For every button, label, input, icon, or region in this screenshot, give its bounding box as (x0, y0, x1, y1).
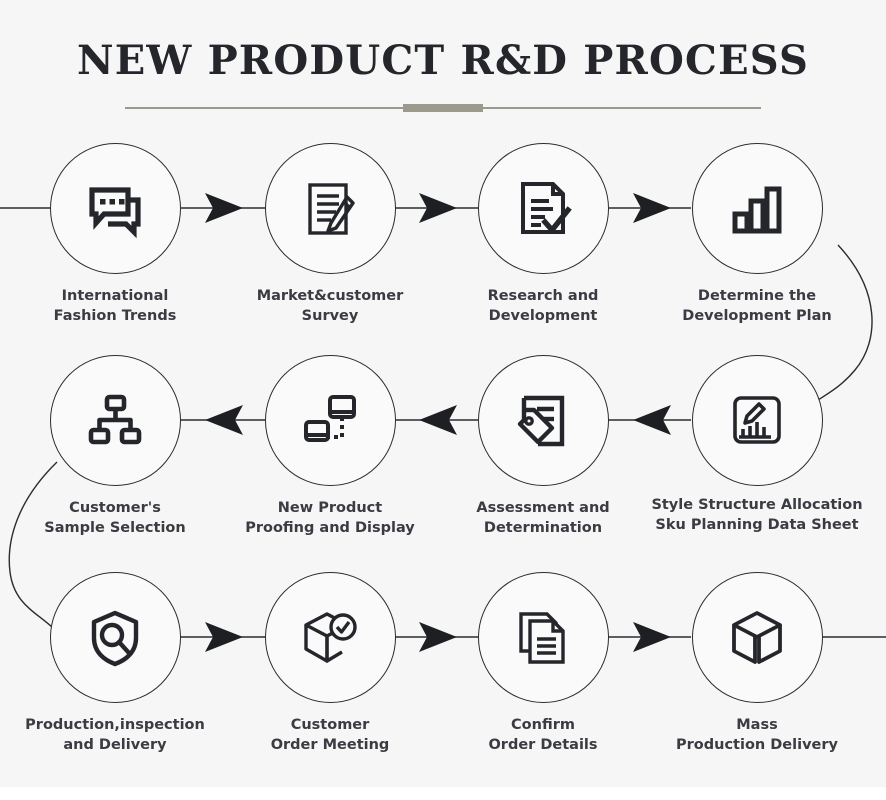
process-node-4[interactable]: Determine the Development Plan (667, 143, 847, 326)
process-node-2-label: Market&customer Survey (240, 286, 420, 326)
process-node-8[interactable]: Customer's Sample Selection (25, 355, 205, 538)
screens-network-icon (298, 389, 362, 453)
bottom-white-strip (0, 787, 886, 800)
process-node-3-circle[interactable] (478, 143, 609, 274)
document-pencil-icon (298, 177, 362, 241)
process-node-7-label: New Product Proofing and Display (240, 498, 420, 538)
process-node-2-circle[interactable] (265, 143, 396, 274)
process-node-5[interactable]: Style Structure Allocation Sku Planning … (667, 355, 847, 486)
process-node-9[interactable]: Production,inspection and Delivery (25, 572, 205, 755)
process-node-5-label: Style Structure Allocation Sku Planning … (642, 495, 872, 535)
documents-stack-icon (511, 606, 575, 670)
document-check-icon (511, 177, 575, 241)
process-node-2[interactable]: Market&customer Survey (240, 143, 420, 326)
process-node-10-circle[interactable] (265, 572, 396, 703)
process-node-12-label: Mass Production Delivery (667, 715, 847, 755)
process-node-6-circle[interactable] (478, 355, 609, 486)
cube-icon (726, 607, 788, 669)
process-node-7[interactable]: New Product Proofing and Display (240, 355, 420, 538)
shield-search-icon (83, 606, 147, 670)
chart-pencil-board-icon (725, 389, 789, 453)
process-node-9-label: Production,inspection and Delivery (0, 715, 230, 755)
process-node-11[interactable]: Confirm Order Details (453, 572, 633, 755)
process-node-11-circle[interactable] (478, 572, 609, 703)
process-node-8-label: Customer's Sample Selection (25, 498, 205, 538)
process-node-6-label: Assessment and Determination (453, 498, 633, 538)
process-node-12-circle[interactable] (692, 572, 823, 703)
process-node-10[interactable]: Customer Order Meeting (240, 572, 420, 755)
process-node-4-circle[interactable] (692, 143, 823, 274)
process-node-5-circle[interactable] (692, 355, 823, 486)
process-node-11-label: Confirm Order Details (453, 715, 633, 755)
process-node-1[interactable]: International Fashion Trends (25, 143, 205, 326)
hierarchy-icon (84, 390, 146, 452)
chat-dots (100, 199, 125, 205)
chat-bubbles-icon (82, 176, 148, 242)
process-node-4-label: Determine the Development Plan (667, 286, 847, 326)
process-node-10-label: Customer Order Meeting (240, 715, 420, 755)
process-node-9-circle[interactable] (50, 572, 181, 703)
process-node-8-circle[interactable] (50, 355, 181, 486)
document-tag-icon (512, 390, 574, 452)
bar-chart-icon (726, 178, 788, 240)
process-node-3-label: Research and Development (453, 286, 633, 326)
process-node-3[interactable]: Research and Development (453, 143, 633, 326)
process-node-1-label: International Fashion Trends (25, 286, 205, 326)
process-node-1-circle[interactable] (50, 143, 181, 274)
process-node-6[interactable]: Assessment and Determination (453, 355, 633, 538)
diagram-page: NEW PRODUCT R&D PROCESS (0, 0, 886, 800)
process-node-7-circle[interactable] (265, 355, 396, 486)
process-node-12[interactable]: Mass Production Delivery (667, 572, 847, 755)
box-check-icon (298, 606, 362, 670)
